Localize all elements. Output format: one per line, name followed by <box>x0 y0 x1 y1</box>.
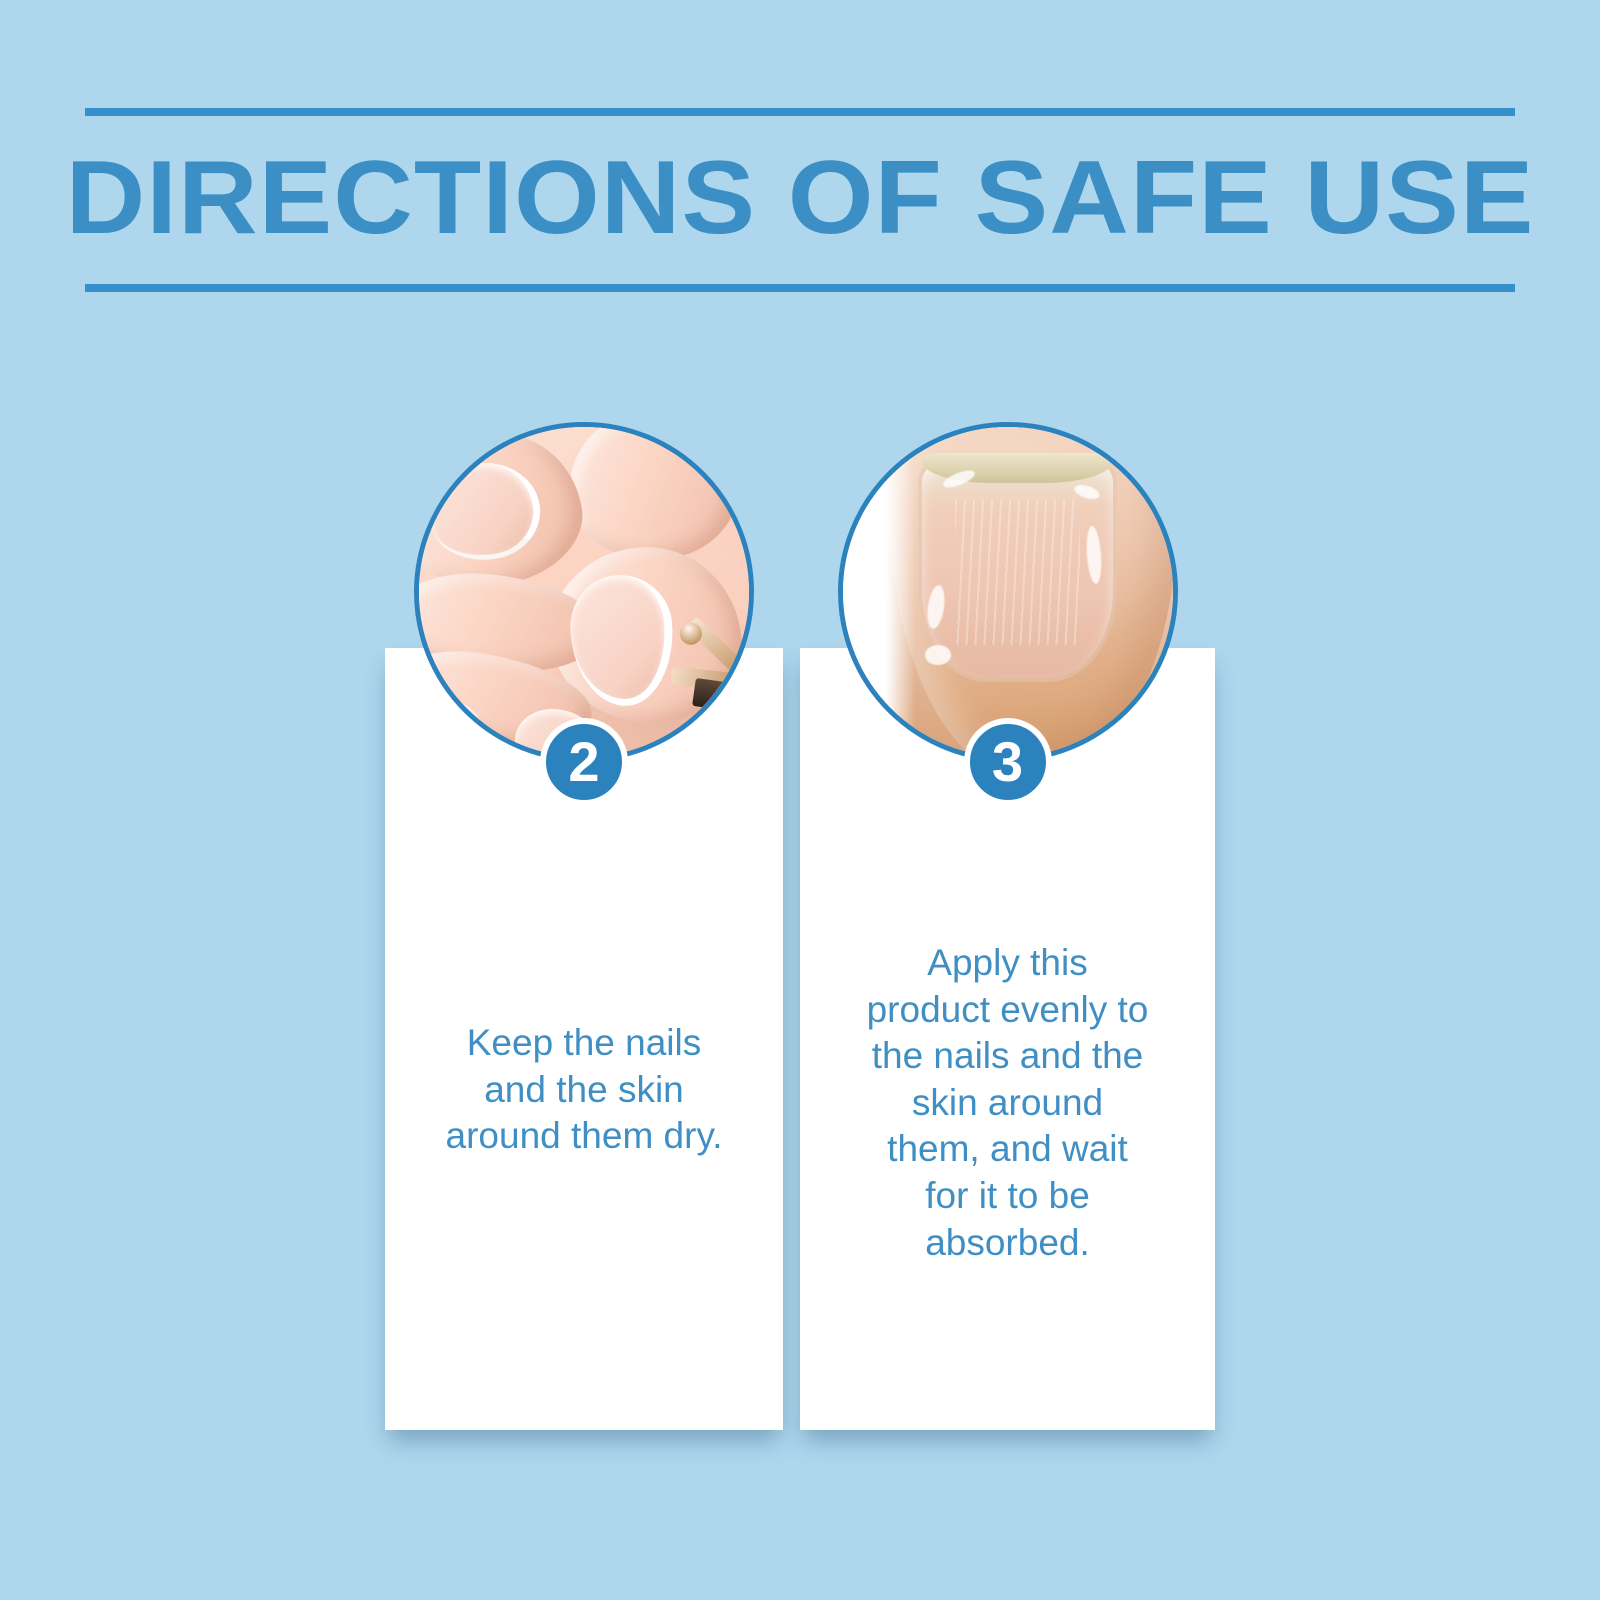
closeup-of-damaged-toenail-photo <box>838 422 1178 762</box>
nail-texture-streaks <box>955 500 1080 645</box>
step-badge-2: 2 <box>540 718 628 806</box>
toe-shape <box>569 422 739 559</box>
nail-macro-illustration <box>843 427 1173 757</box>
photo-white-edge <box>843 427 916 757</box>
nail-flake <box>925 645 951 665</box>
header-rule-top <box>85 108 1515 116</box>
step-badge-3: 3 <box>964 718 1052 806</box>
page-header: DIRECTIONS OF SAFE USE <box>85 108 1515 292</box>
step-image-wrap-2: 2 <box>414 422 754 762</box>
steps-container: 2 Keep the nails and the skin around the… <box>385 648 1215 1430</box>
toenails-being-trimmed-with-clipper-photo <box>414 422 754 762</box>
header-rule-bottom <box>85 284 1515 292</box>
step-caption-3: Apply this product evenly to the nails a… <box>862 940 1154 1266</box>
step-image-wrap-3: 3 <box>838 422 1178 762</box>
toes-illustration <box>419 427 749 757</box>
step-caption-2: Keep the nails and the skin around them … <box>434 1020 734 1160</box>
step-card-3: 3 Apply this product evenly to the nails… <box>800 648 1215 1430</box>
step-card-2: 2 Keep the nails and the skin around the… <box>385 648 783 1430</box>
page-title: DIRECTIONS OF SAFE USE <box>42 116 1558 284</box>
